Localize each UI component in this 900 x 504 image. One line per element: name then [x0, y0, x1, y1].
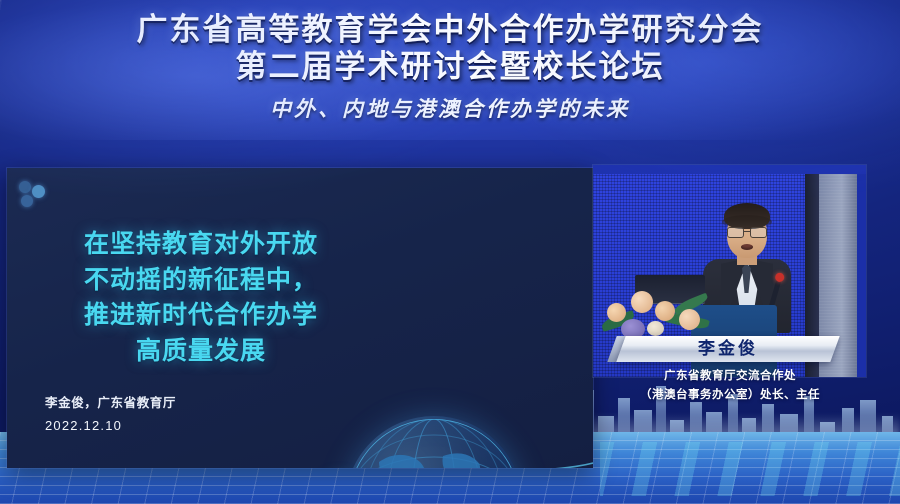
speaker-title-line-2: （港澳台事务办公室）处长、主任 [600, 385, 860, 404]
three-dots-cluster-icon [19, 180, 53, 210]
slide-presenter: 李金俊，广东省教育厅 [45, 392, 176, 411]
speaker-hair [724, 203, 770, 229]
slide-date: 2022.12.10 [45, 418, 176, 433]
slide-headline-line-3: 推进新时代合作办学 [19, 297, 383, 333]
speaker-title-block: 广东省教育厅交流合作处 （港澳台事务办公室）处长、主任 [600, 366, 860, 404]
event-banner: 广东省高等教育学会中外合作办学研究分会 第二届学术研讨会暨校长论坛 中外、内地与… [0, 0, 900, 140]
presentation-slide[interactable]: 在坚持教育对外开放 不动摇的新征程中， 推进新时代合作办学 高质量发展 李金俊，… [7, 168, 593, 468]
globe-icon [345, 416, 523, 468]
speaker-title-line-1: 广东省教育厅交流合作处 [600, 366, 860, 385]
broadcast-stage: 广东省高等教育学会中外合作办学研究分会 第二届学术研讨会暨校长论坛 中外、内地与… [0, 0, 900, 504]
slide-headline: 在坚持教育对外开放 不动摇的新征程中， 推进新时代合作办学 高质量发展 [7, 226, 593, 368]
banner-subtitle: 中外、内地与港澳合作办学的未来 [0, 93, 900, 123]
banner-title-line-1: 广东省高等教育学会中外合作办学研究分会 [0, 14, 900, 47]
glasses-icon [727, 227, 767, 236]
banner-text-block: 广东省高等教育学会中外合作办学研究分会 第二届学术研讨会暨校长论坛 中外、内地与… [0, 14, 900, 123]
floor-light-tiles [600, 442, 900, 496]
slide-headline-line-2: 不动摇的新征程中， [19, 262, 383, 298]
speaker-name: 李金俊 [621, 336, 835, 362]
globe-wireframe [345, 416, 523, 468]
banner-title-line-2: 第二届学术研讨会暨校长论坛 [0, 51, 900, 84]
slide-headline-line-4: 高质量发展 [19, 333, 383, 369]
slide-footer: 李金俊，广东省教育厅 2022.12.10 [45, 392, 176, 433]
speaker-name-plate: 李金俊 [616, 336, 839, 362]
speaker-mouth [741, 244, 753, 250]
slide-headline-line-1: 在坚持教育对外开放 [19, 226, 383, 262]
